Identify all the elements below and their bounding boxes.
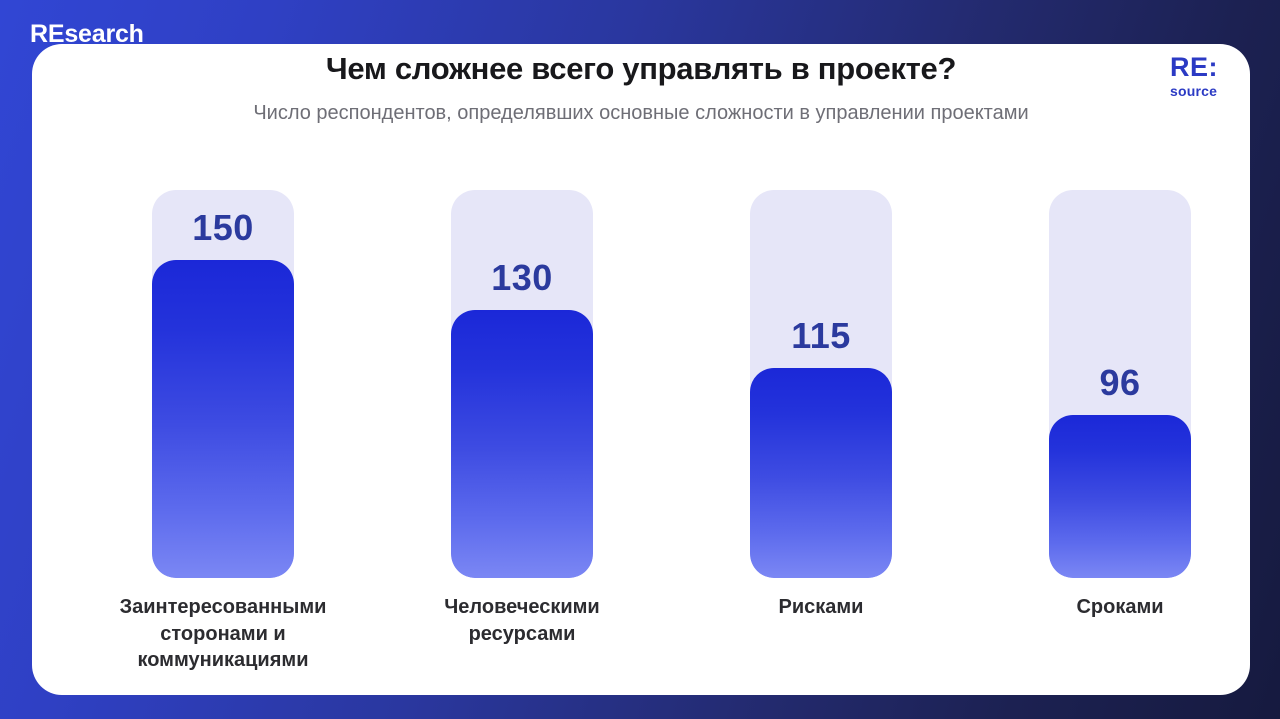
bar-value-label: 150 bbox=[192, 210, 254, 246]
bar-group: 130Человеческими ресурсами bbox=[412, 190, 632, 695]
bar-value-label: 96 bbox=[1099, 365, 1140, 401]
bar-category-label: Сроками bbox=[995, 594, 1245, 621]
bar-track bbox=[750, 190, 892, 578]
bar-category-label: Человеческими ресурсами bbox=[397, 594, 647, 647]
chart-title: Чем сложнее всего управлять в проекте? bbox=[32, 50, 1250, 87]
bar-category-label: Рисками bbox=[696, 594, 946, 621]
bar-category-label: Заинтересованными сторонами и коммуникац… bbox=[98, 594, 348, 674]
bar-group: 96Сроками bbox=[1010, 190, 1230, 695]
bar-fill[interactable] bbox=[1049, 415, 1191, 578]
bar-fill[interactable] bbox=[152, 260, 294, 578]
heading-block: Чем сложнее всего управлять в проекте? Ч… bbox=[32, 50, 1250, 128]
bar-value-label: 130 bbox=[491, 260, 553, 296]
bar-track bbox=[152, 190, 294, 578]
bar-fill[interactable] bbox=[451, 310, 593, 578]
bar-value-label: 115 bbox=[791, 318, 851, 354]
bar-group: 150Заинтересованными сторонами и коммуни… bbox=[113, 190, 333, 695]
slide-canvas: REsearch RE: source Чем сложнее всего уп… bbox=[0, 0, 1280, 719]
bar-fill[interactable] bbox=[750, 368, 892, 578]
bar-chart-plot-area: 150Заинтересованными сторонами и коммуни… bbox=[32, 190, 1250, 695]
chart-subtitle: Число респондентов, определявших основны… bbox=[226, 99, 1056, 127]
chart-card: RE: source Чем сложнее всего управлять в… bbox=[32, 44, 1250, 695]
bar-track bbox=[451, 190, 593, 578]
bar-group: 115Рисками bbox=[711, 190, 931, 695]
